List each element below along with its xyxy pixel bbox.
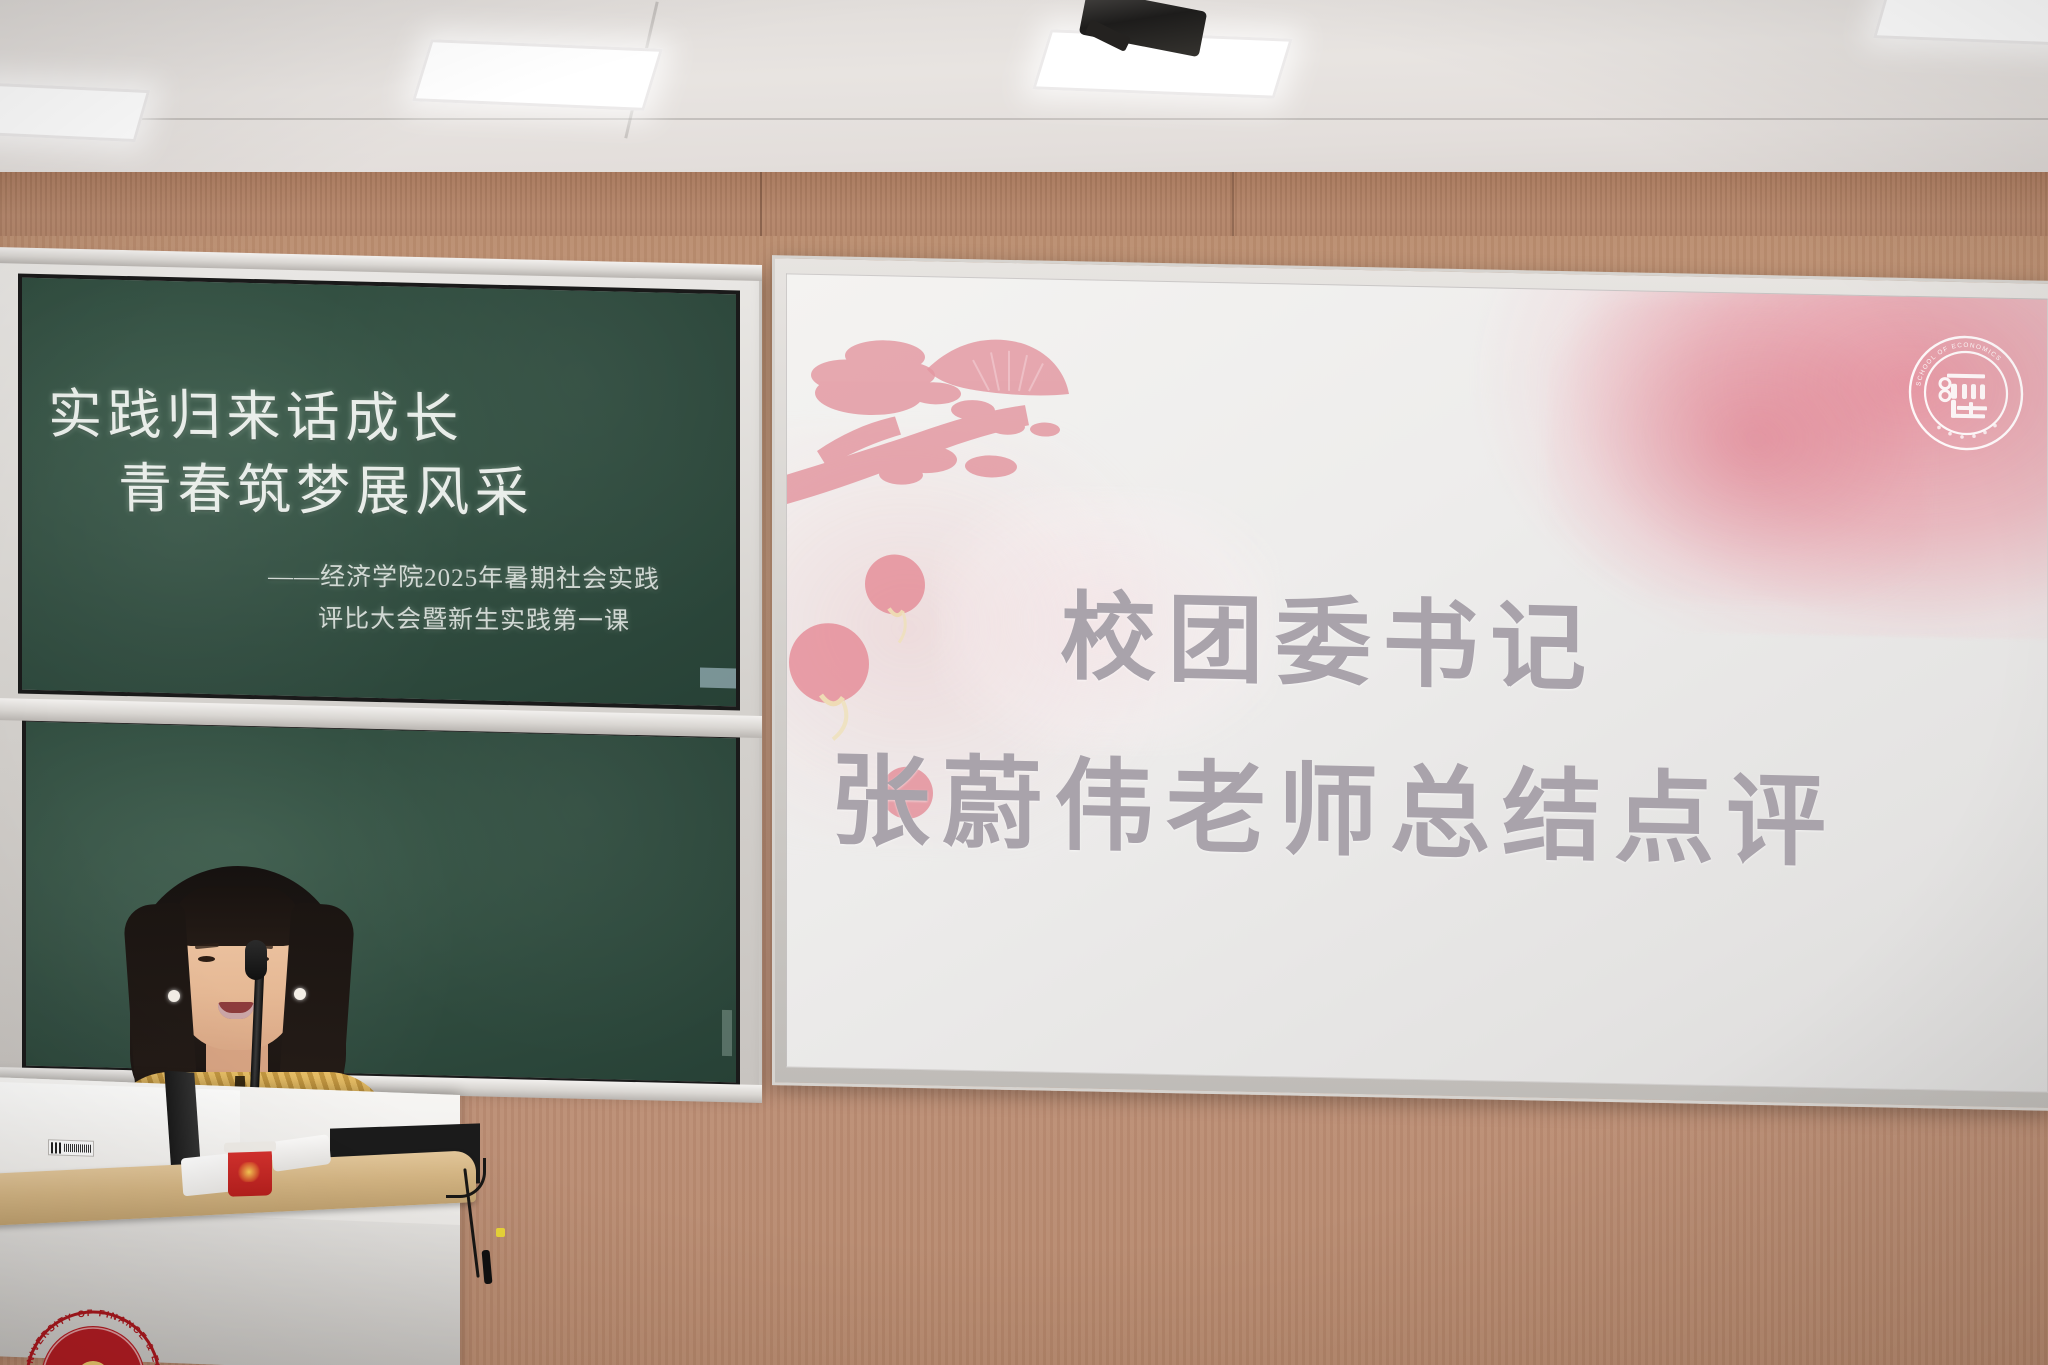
- speaker-eye-left: [198, 956, 215, 962]
- lecture-hall-photo: 实践归来话成长 青春筑梦展风采 ——经济学院2025年暑期社会实践 评比大会暨新…: [0, 0, 2048, 1365]
- ceiling-seam: [0, 118, 2048, 120]
- red-cup: [228, 1147, 272, 1197]
- speaker-earring-right: [294, 988, 306, 1000]
- chalk-mark: [722, 1010, 732, 1056]
- slide-text-line-2: 张蔚伟老师总结点评: [830, 719, 1838, 886]
- ceiling-light-panel-left: [0, 82, 150, 142]
- speaker-earring-left: [168, 990, 180, 1002]
- tissue-box: [181, 1154, 232, 1197]
- barcode-icon: [64, 1144, 91, 1153]
- university-emblem: UNIVERSITY OF FINANCE & ECONOMICS: [18, 1292, 168, 1365]
- svg-text:SCHOOL OF ECONOMICS: SCHOOL OF ECONOMICS: [1915, 341, 2002, 388]
- podium-qr-label: [48, 1139, 94, 1157]
- slide-text-line-1: 校团委书记: [1060, 559, 1598, 710]
- microphone-head-icon: [245, 940, 267, 980]
- cable-tag: [496, 1228, 505, 1237]
- cup-lid: [224, 1141, 276, 1153]
- chalkboard-subtitle-line-2: 评比大会暨新生实践第一课: [318, 599, 631, 638]
- ceiling: [0, 0, 2048, 200]
- watercolor-wash-accent: [1547, 300, 1927, 608]
- ceiling-light-panel-1: [412, 39, 663, 111]
- chalkboard-subtitle-line-1: ——经济学院2025年暑期社会实践: [268, 556, 661, 595]
- ceiling-light-panel-right: [1873, 0, 2048, 46]
- speaker-hair-fringe: [172, 886, 302, 946]
- chalkboard-heading-line-1: 实践归来话成长: [47, 369, 464, 453]
- chalk-smudge: [700, 668, 736, 689]
- qr-code-icon: [51, 1142, 62, 1153]
- chalkboard-heading-line-2: 青春筑梦展风采: [117, 444, 534, 527]
- school-of-economics-seal-logo: SCHOOL OF ECONOMICS: [1907, 333, 2025, 453]
